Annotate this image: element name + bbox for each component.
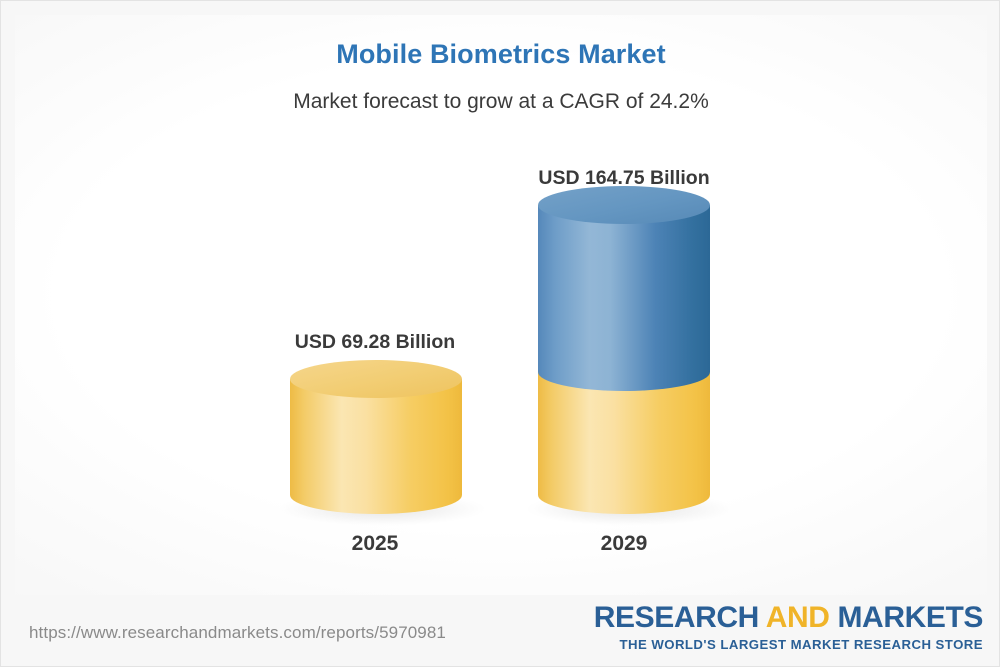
chart-canvas: Mobile Biometrics Market Market forecast…: [0, 0, 1000, 667]
category-label-2029: 2029: [524, 532, 724, 556]
logo-word-markets: MARKETS: [837, 601, 983, 634]
logo-tagline: THE WORLD'S LARGEST MARKET RESEARCH STOR…: [594, 638, 983, 651]
research-and-markets-logo: RESEARCH AND MARKETS THE WORLD'S LARGEST…: [594, 603, 983, 651]
value-label-2025: USD 69.28 Billion: [275, 331, 475, 354]
category-label-2025: 2025: [275, 532, 475, 556]
chart-subtitle: Market forecast to grow at a CAGR of 24.…: [1, 90, 1000, 114]
source-url[interactable]: https://www.researchandmarkets.com/repor…: [29, 623, 446, 643]
value-label-2029: USD 164.75 Billion: [524, 167, 724, 190]
logo-word-and: AND: [766, 601, 830, 634]
chart-title: Mobile Biometrics Market: [1, 39, 1000, 70]
logo-word-research: RESEARCH: [594, 601, 759, 634]
logo-wordmark: RESEARCH AND MARKETS: [594, 603, 983, 633]
